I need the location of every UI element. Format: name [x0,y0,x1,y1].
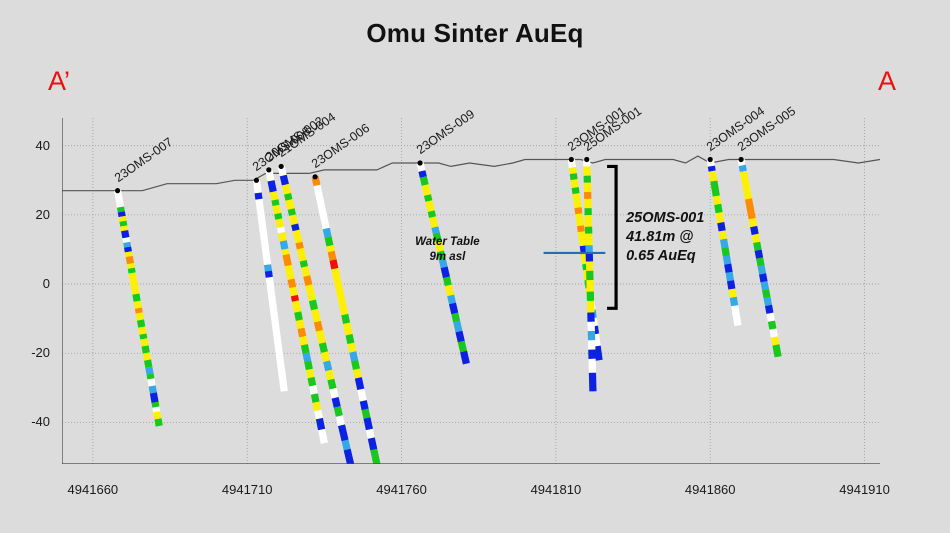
assay-segment [313,402,322,412]
assay-segment [445,285,454,297]
assay-segment [294,311,303,321]
assay-segment [362,409,371,419]
assay-segment [441,267,450,279]
assay-segment [296,320,305,330]
assay-segment [585,234,593,246]
water-table-annotation: Water Table9m asl [415,235,480,265]
assay-segment [723,255,731,264]
assay-segment [137,319,145,327]
assay-segment [768,321,777,330]
assay-segment [570,173,578,180]
assay-segment [584,176,591,183]
assay-segment [453,321,462,333]
drillhole-collar-marker [569,157,574,162]
water-table-label-line1: Water Table [415,236,480,248]
assay-segment [344,449,356,464]
assay-segment [332,397,341,408]
assay-segment [325,236,334,246]
assay-segment [143,352,151,360]
assay-segment [451,313,460,323]
assay-segment [363,417,373,430]
assay-segment [759,273,768,282]
assay-segment [265,271,273,278]
assay-segment [289,214,298,225]
assay-segment [709,171,718,182]
drillhole-trace[interactable] [253,178,288,392]
assay-segment [574,207,582,214]
assay-segment [716,212,725,223]
assay-segment [331,268,341,281]
assay-segment [745,198,756,219]
assay-segment [443,277,452,287]
assay-segment [311,393,320,403]
assay-segment [319,342,328,353]
assay-segment [740,171,752,200]
assay-segment [316,418,325,430]
assay-segment [569,167,577,174]
section-marker-left: A’ [48,66,70,97]
callout-bracket [607,166,616,308]
assay-segment [455,331,464,343]
assay-segment [313,185,329,230]
assay-segment [150,392,159,403]
assay-segment [132,294,140,302]
assay-segment [717,222,725,231]
y-axis-tick-label: 20 [10,207,50,222]
assay-segment [587,292,594,301]
assay-segment [714,204,722,213]
assay-segment [309,385,318,395]
assay-segment [145,366,153,374]
assay-segment [351,360,360,370]
assay-segment [420,176,429,186]
assay-segment [752,234,761,243]
y-axis-tick-label: -40 [10,414,50,429]
assay-segment [762,289,771,298]
assay-segment [422,184,431,196]
assay-segment [314,321,323,332]
axes [62,118,880,464]
assay-segment [341,314,350,324]
y-axis-tick-label: 0 [10,276,50,291]
assay-segment [297,248,307,262]
assay-segment [289,287,298,297]
assay-segment [584,183,591,192]
assay-segment [270,191,279,201]
assay-segment [301,344,310,354]
drillhole-collar-marker [313,174,318,179]
assay-segment [728,288,736,297]
assay-segment [724,264,732,273]
assay-segment [334,406,343,417]
callout-annotation: 25OMS-00141.81m @0.65 AuEq [626,209,704,266]
assay-segment [761,281,770,290]
assay-segment [301,266,310,277]
assay-segment [140,338,148,346]
assay-segment [753,242,762,251]
assay-segment [460,351,470,365]
assay-segment [353,368,362,378]
assay-segment [588,340,595,349]
assay-segment [153,411,161,419]
x-axis-tick-label: 4941660 [48,482,138,497]
assay-segment [306,369,315,379]
assay-segment [360,400,369,410]
assay-segment [347,343,356,353]
assay-segment [303,352,312,362]
topography-line [62,156,880,191]
assay-segment [710,181,720,197]
assay-segment [587,312,594,321]
assay-segment [588,359,596,373]
x-axis-tick-label: 4941860 [665,482,755,497]
chart-root: Omu Sinter AuEq A’ A 23OMS-00723OMS-0082… [0,0,950,533]
assay-segment [121,230,129,238]
assay-segment [584,199,591,208]
drillhole-collar-marker [115,188,120,193]
assay-segment [305,284,316,301]
assay-segment [142,345,150,353]
assay-segment [769,328,778,337]
assay-segment [268,180,277,192]
assay-segment [731,305,741,326]
assay-segment [355,377,365,390]
assay-segment [285,199,294,210]
assay-segment [772,344,781,357]
assay-segment [334,279,348,315]
assay-segment [327,379,336,390]
assay-segment [349,351,358,361]
assay-segment [323,360,332,371]
assay-segment [429,216,438,228]
drillhole-collar-marker [738,157,743,162]
drillhole-trace[interactable] [738,157,782,357]
assay-segment [458,341,467,353]
assay-segment [588,350,595,359]
assay-segment [766,313,775,322]
assay-segment [577,225,585,232]
drillhole-collar-marker [417,160,422,165]
assay-segment [255,199,271,265]
drillhole-collar-marker [708,157,713,162]
assay-segment [750,226,759,235]
assay-segment [308,377,317,387]
assay-segment [346,334,355,344]
assay-segment [583,166,590,175]
assay-segment [587,301,595,313]
assay-segment [726,272,734,281]
assay-segment [136,312,144,320]
assay-segment [719,230,727,239]
x-axis-tick-label: 4941810 [511,482,601,497]
assay-segment [311,309,321,323]
assay-segment [293,230,303,244]
assay-segment [318,429,328,444]
assay-segment [368,437,378,450]
assay-segment [585,227,592,234]
assay-segment [575,213,584,226]
x-axis-tick-label: 4941710 [202,482,292,497]
assay-segment [264,264,272,271]
assay-segment [587,322,594,331]
drillhole-trace[interactable] [707,157,742,326]
assay-segment [749,218,758,227]
assay-segment [285,265,295,280]
drillhole-collar-marker [584,157,589,162]
y-axis-tick-label: -20 [10,345,50,360]
assay-segment [303,275,312,286]
assay-segment [321,351,330,362]
assay-segment [765,305,774,314]
assay-segment [299,336,308,346]
assay-segment [329,388,338,399]
assay-segment [720,239,728,248]
assay-segment [266,277,288,392]
assay-segment [273,205,282,215]
drillhole-collar-marker [279,164,284,169]
assay-segment [280,240,289,250]
y-axis-tick-label: 40 [10,138,50,153]
assay-segment [449,303,458,315]
assay-segment [586,280,594,292]
assay-segment [447,295,456,305]
assay-segment [763,297,772,306]
assay-segment [282,184,291,195]
drillhole-trace[interactable] [114,188,163,427]
callout-line3: 0.65 AuEq [626,247,704,266]
assay-segment [323,228,332,238]
assay-segment [727,280,735,289]
assay-segment [275,218,284,228]
assay-segment [149,385,157,393]
assay-segment [572,193,581,208]
assay-segment [755,250,764,259]
assay-segment [589,373,597,392]
assay-segment [343,323,353,336]
assay-segment [370,449,380,464]
water-table-label-line2: 9m asl [429,251,465,263]
assay-segment [585,215,593,227]
assay-segment [129,272,140,294]
assay-segment [771,336,780,345]
assay-segment [325,370,334,381]
assay-segment [144,359,152,367]
cross-section-svg [62,118,880,464]
page-title: Omu Sinter AuEq [0,18,950,49]
assay-segment [278,232,287,242]
assay-segment [147,378,155,386]
assay-segment [304,361,313,371]
assay-segment [357,389,367,402]
assay-segment [328,251,337,261]
assay-segment [330,259,339,269]
assay-segment [756,257,765,266]
assay-segment [758,265,767,274]
assay-segment [342,440,351,451]
assay-segment [134,301,142,309]
assay-segment [126,256,134,264]
assay-segment [154,418,162,426]
assay-segment [314,410,323,420]
assay-segment [721,247,729,256]
assay-segment [584,208,591,215]
assay-segment [425,200,434,212]
x-axis-tick-label: 4941760 [357,482,447,497]
assay-segment [283,254,292,266]
assay-segment [713,195,721,204]
assay-segment [309,300,318,311]
assay-segment [255,192,263,199]
assay-segment [586,271,593,280]
assay-segment [571,179,579,188]
section-marker-right: A [878,66,896,97]
assay-segment [366,429,375,439]
drillhole-collar-marker [254,178,259,183]
assay-segment [338,424,349,441]
assay-segment [730,297,738,306]
cross-section-plot [62,118,880,464]
drillhole-collar-marker [266,167,271,172]
assay-segment [586,261,593,270]
assay-segment [316,330,326,344]
assay-segment [572,187,580,194]
assay-segment [298,328,307,338]
assay-segment [336,415,345,426]
assay-segment [280,175,289,186]
assay-segment [138,326,146,334]
assay-segment [292,300,301,312]
assay-segment [585,245,592,252]
callout-line1: 25OMS-001 [626,209,704,228]
assay-segment [584,192,591,199]
callout-line2: 41.81m @ [626,228,704,247]
x-axis-tick-label: 4941910 [820,482,910,497]
assay-segment [588,331,595,340]
assay-segment [288,279,297,289]
